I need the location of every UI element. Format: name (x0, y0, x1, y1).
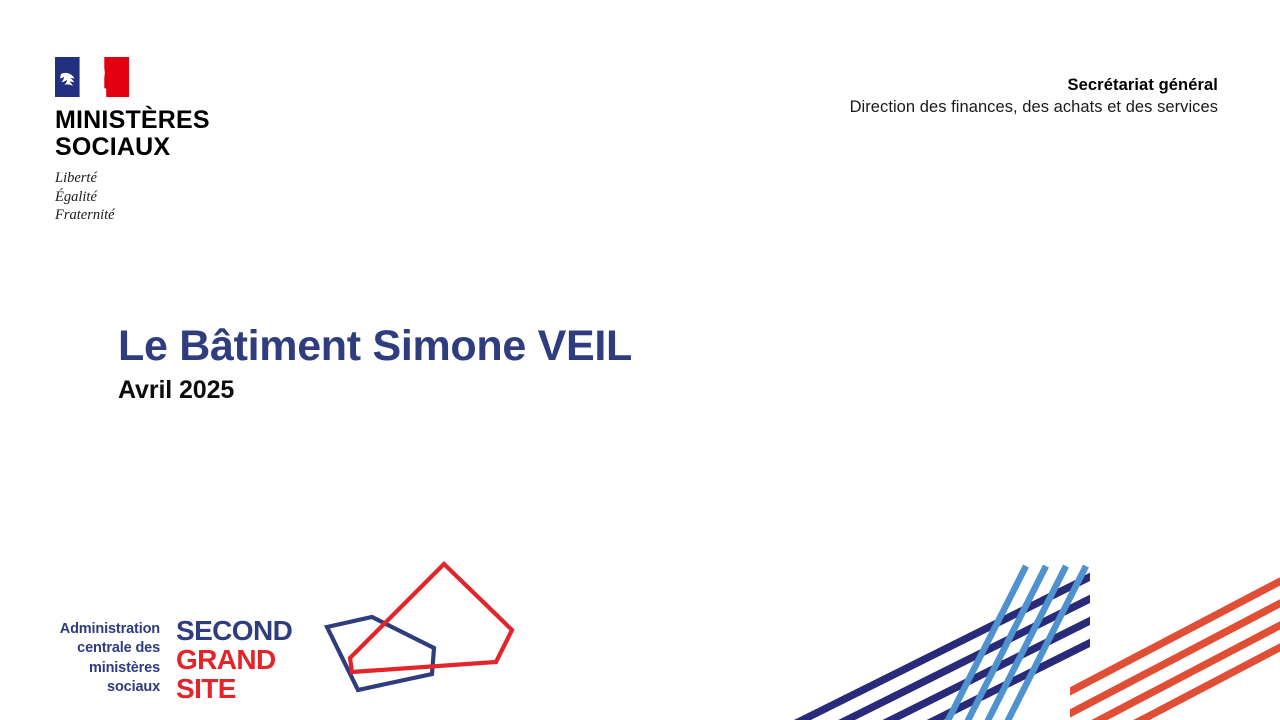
motto-liberte: Liberté (55, 169, 285, 188)
motto-fraternite: Fraternité (55, 206, 285, 225)
overlapping-polygons-graphic (310, 548, 540, 720)
header-organisation: Secrétariat général (850, 74, 1218, 96)
sgs-line-site: SITE (176, 674, 292, 703)
page-subtitle: Avril 2025 (118, 376, 632, 405)
second-grand-site-logo: SECOND GRAND SITE (176, 616, 292, 703)
diagonal-stripes-graphic (740, 560, 1280, 720)
admin-mark-line4: sociaux (24, 678, 160, 697)
french-flag-marianne-emblem (55, 57, 129, 97)
republic-logo: MINISTÈRES SOCIAUX Liberté Égalité Frate… (55, 57, 285, 225)
page-title: Le Bâtiment Simone VEIL (118, 322, 632, 370)
red-stripe-band (920, 560, 1280, 720)
sgs-line-grand: GRAND (176, 645, 292, 674)
title-block: Le Bâtiment Simone VEIL Avril 2025 (118, 322, 632, 405)
admin-mark-line3: ministères (24, 659, 160, 678)
header-department: Direction des finances, des achats et de… (850, 96, 1218, 118)
motto-egalite: Égalité (55, 188, 285, 207)
ministry-name: MINISTÈRES SOCIAUX (55, 107, 285, 161)
sgs-line-second: SECOND (176, 616, 292, 645)
header-block: Secrétariat général Direction des financ… (850, 74, 1218, 119)
ministry-name-line2: SOCIAUX (55, 134, 285, 161)
admin-mark-line2: centrale des (24, 639, 160, 658)
ministry-name-line1: MINISTÈRES (55, 107, 285, 134)
administration-centrale-wordmark: Administration centrale des ministères s… (24, 620, 160, 697)
republic-motto: Liberté Égalité Fraternité (55, 169, 285, 225)
admin-mark-line1: Administration (24, 620, 160, 639)
